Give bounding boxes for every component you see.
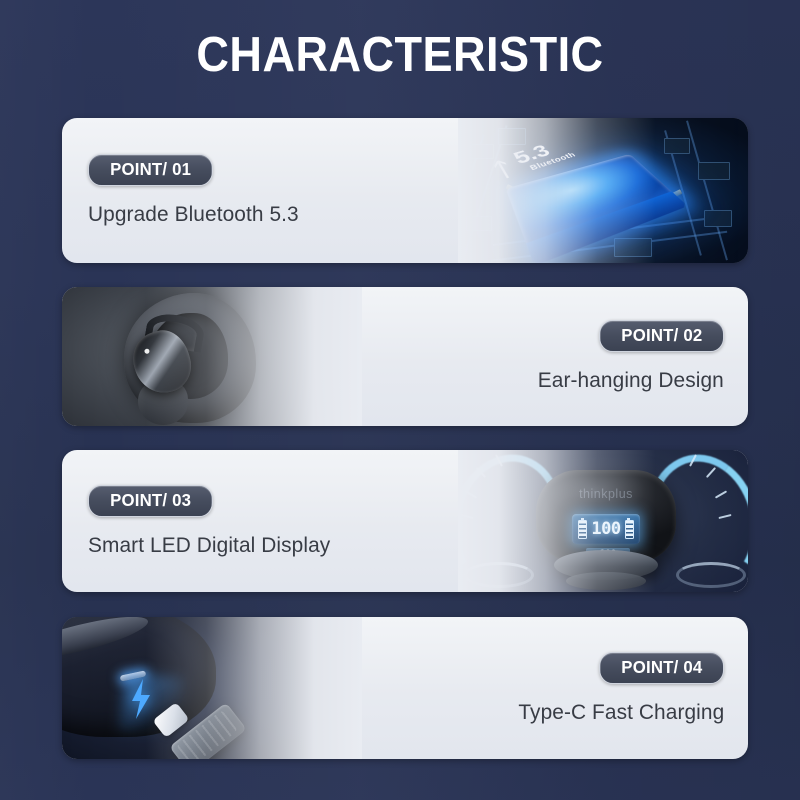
pcb-background: ᛏ 5.3 Bluetooth [458,118,748,263]
ear-scene [62,287,362,426]
earbud-highlight [144,348,150,354]
chip-version-label: 5.3 [510,142,555,169]
card-2-caption: Ear-hanging Design [538,368,724,393]
case-stand-shadow [566,572,646,590]
feature-card-1[interactable]: ᛏ 5.3 Bluetooth POINT/ 01 Upgrade Blueto… [62,118,748,263]
card-4-text: POINT/ 04 Type-C Fast Charging [512,617,724,759]
battery-bar-right-icon [625,520,634,539]
usb-c-plug-photo [62,617,362,759]
bluetooth-chip-photo: ᛏ 5.3 Bluetooth [458,118,748,263]
case-brand-label: thinkplus [536,487,676,501]
feature-card-4[interactable]: POINT/ 04 Type-C Fast Charging [62,617,748,759]
feature-card-2[interactable]: POINT/ 02 Ear-hanging Design [62,287,748,426]
card-3-caption: Smart LED Digital Display [88,533,330,558]
usb-charging-scene [62,617,362,759]
led-display: 100 [572,514,640,544]
charging-case-led-photo: thinkplus 100 100 [458,450,748,592]
battery-percent-value: 100 [591,519,620,539]
chip-brand-label: Bluetooth [528,151,577,172]
card-1-caption: Upgrade Bluetooth 5.3 [88,202,299,227]
point-badge-2[interactable]: POINT/ 02 [599,320,724,352]
feature-card-3[interactable]: thinkplus 100 100 POINT/ 03 Smart LED Di… [62,450,748,592]
point-badge-3[interactable]: POINT/ 03 [88,485,213,517]
lightning-bolt-icon [128,679,154,719]
point-badge-1[interactable]: POINT/ 01 [88,154,213,186]
page-title: CHARACTERISTIC [32,26,768,84]
card-2-text: POINT/ 02 Ear-hanging Design [532,287,724,426]
point-badge-4[interactable]: POINT/ 04 [599,652,724,684]
card-4-caption: Type-C Fast Charging [518,700,724,725]
charging-case-body: thinkplus 100 100 [536,470,676,562]
ear-with-earbud-photo [62,287,362,426]
card-3-text: POINT/ 03 Smart LED Digital Display [88,450,338,592]
infographic-page: CHARACTERISTIC [0,0,800,800]
charging-case-scene: thinkplus 100 100 [458,450,748,592]
battery-bar-left-icon [578,520,587,539]
card-1-text: POINT/ 01 Upgrade Bluetooth 5.3 [88,118,305,263]
